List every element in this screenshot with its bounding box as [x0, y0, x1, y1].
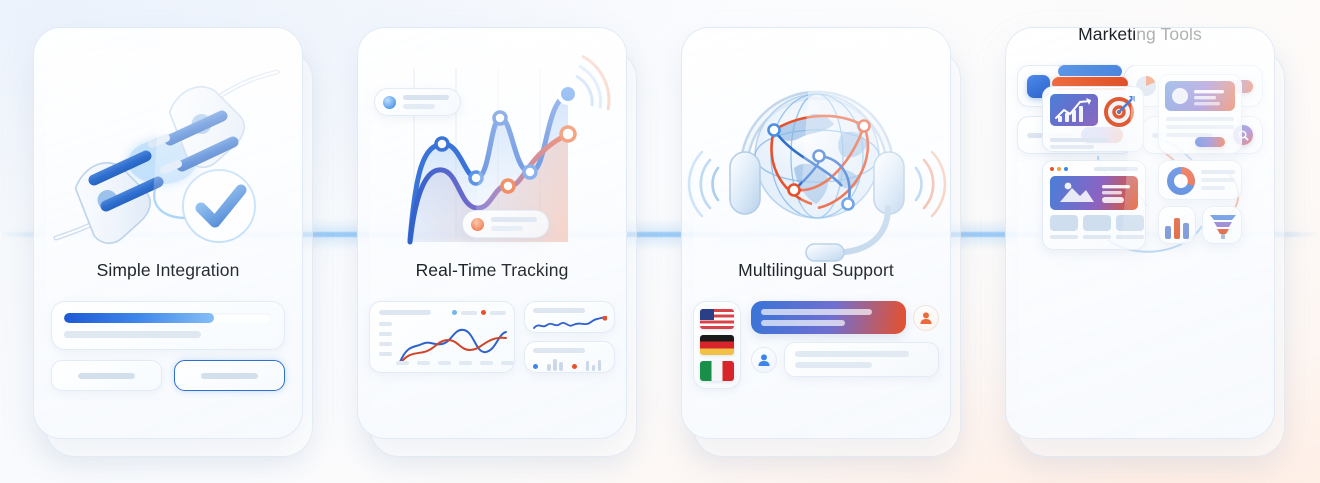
- flag-italy[interactable]: [700, 361, 734, 381]
- donut-chart-icon: [1165, 165, 1197, 197]
- flag-germany[interactable]: [700, 335, 734, 355]
- hero-real-time-tracking: [358, 28, 626, 264]
- language-selector[interactable]: [693, 301, 741, 389]
- bar-stats-card[interactable]: [524, 341, 615, 373]
- progress-track[interactable]: [64, 313, 272, 323]
- flag-canton: [700, 309, 714, 320]
- headset-globe-icon: [682, 28, 951, 264]
- card-stack-simple-integration: Simple Integration: [33, 27, 315, 457]
- card-stack-multilingual-support: Multilingual Support: [681, 27, 963, 457]
- progress-card: [51, 301, 285, 350]
- analytics-widgets: [369, 301, 615, 373]
- card-footer: [358, 281, 626, 373]
- tooltip-dot-blue: [383, 96, 396, 109]
- profile-card[interactable]: [1158, 74, 1242, 154]
- hero-marketing-tools: [1006, 28, 1274, 264]
- secondary-button[interactable]: [51, 360, 162, 391]
- profile-banner: [1165, 81, 1235, 111]
- chat-bubble-user[interactable]: [784, 342, 939, 377]
- feature-card-marketing-tools[interactable]: Marketing Tools: [1005, 27, 1275, 439]
- analytics-target-card[interactable]: [1042, 86, 1144, 152]
- analytics-chart-card[interactable]: [369, 301, 515, 373]
- progress-fill: [64, 313, 214, 323]
- bar-chart-icon: [1163, 214, 1193, 240]
- feature-card-multilingual-support[interactable]: Multilingual Support: [681, 27, 951, 439]
- plug-connect-check-icon: [34, 28, 303, 264]
- avatar-orange[interactable]: [913, 305, 939, 331]
- traffic-lights-icon: [1050, 167, 1068, 171]
- chat-bubble-agent[interactable]: [751, 301, 906, 334]
- funnel-icon: [1208, 212, 1238, 240]
- sparkline-card[interactable]: [524, 301, 615, 333]
- bar-group-orange: [586, 357, 602, 371]
- feature-card-row: Simple Integration: [0, 0, 1320, 483]
- card-footer: [682, 281, 950, 389]
- chat-thread: [751, 301, 939, 389]
- hero-simple-integration: [34, 28, 302, 264]
- image-placeholder-icon: [1050, 176, 1138, 210]
- button-label: [201, 373, 258, 379]
- hero-multilingual-support: [682, 28, 950, 264]
- user-icon: [757, 353, 771, 367]
- chart-tooltip-blue[interactable]: [374, 88, 461, 116]
- avatar-blue[interactable]: [751, 347, 777, 373]
- button-row: [51, 360, 285, 391]
- card-header-line: [379, 310, 431, 315]
- progress-subline: [64, 331, 201, 338]
- website-builder-card[interactable]: [1042, 160, 1146, 250]
- feature-card-real-time-tracking[interactable]: Real-Time Tracking: [357, 27, 627, 439]
- chart-legend: [452, 310, 506, 315]
- chat-row-user: [751, 342, 939, 377]
- card-stack-real-time-tracking: Real-Time Tracking: [357, 27, 639, 457]
- cta-button-icon[interactable]: [1195, 137, 1225, 147]
- user-icon: [919, 311, 933, 325]
- sparkline: [533, 316, 607, 332]
- bar-line-chart-icon: [1050, 94, 1098, 126]
- chart-tooltip-orange[interactable]: [462, 210, 549, 238]
- tooltip-lines: [491, 217, 537, 231]
- card-stack-marketing-tools: Marketing Tools: [1005, 27, 1287, 457]
- x-axis-ticks: [396, 361, 514, 365]
- dual-line-sparkchart: [398, 322, 508, 366]
- card-header-line: [533, 308, 585, 313]
- donut-chart-card[interactable]: [1158, 160, 1242, 200]
- feature-card-simple-integration[interactable]: Simple Integration: [33, 27, 303, 439]
- tooltip-dot-orange: [471, 218, 484, 231]
- language-chat-widgets: [693, 301, 939, 389]
- tooltip-lines: [403, 95, 449, 109]
- funnel-card[interactable]: [1202, 206, 1242, 244]
- bar-group-blue: [547, 357, 563, 371]
- card-footer: [34, 281, 302, 391]
- card-header-line: [533, 348, 585, 353]
- primary-button[interactable]: [174, 360, 285, 391]
- y-axis-ticks: [379, 322, 392, 356]
- flag-united-states[interactable]: [700, 309, 734, 329]
- chat-row-agent: [751, 301, 939, 334]
- button-label: [78, 373, 135, 379]
- target-icon: [1103, 93, 1137, 127]
- side-widgets: [524, 301, 615, 373]
- bar-chart-card[interactable]: [1158, 206, 1196, 244]
